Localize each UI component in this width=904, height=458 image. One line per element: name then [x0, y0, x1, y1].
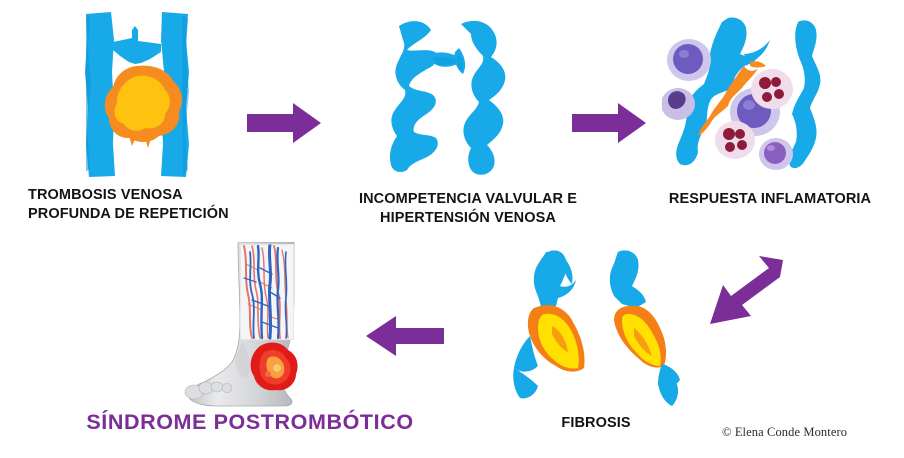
leukocyte-lymphocyte-3: [759, 138, 793, 170]
diagram-canvas: TROMBOSIS VENOSA PROFUNDA DE REPETICIÓN …: [0, 0, 904, 458]
caption-trombosis-venosa-profunda: TROMBOSIS VENOSA PROFUNDA DE REPETICIÓN: [0, 186, 290, 224]
leukocyte-neutrophil-2: [715, 121, 755, 159]
vein-wall-right-inflamed: [789, 20, 820, 168]
leukocyte-neutrophil-1: [751, 69, 793, 109]
vein-wall-right-tortuous: [454, 21, 505, 175]
figure-vein-with-thrombus: [62, 8, 212, 180]
valve-leaflets: [113, 26, 161, 64]
caption-respuesta-inflamatoria: RESPUESTA INFLAMATORIA: [636, 190, 904, 209]
caption-fibrosis: FIBROSIS: [498, 414, 694, 433]
fibrotic-vein-left: [513, 250, 584, 398]
arrow-diagonal-down-left: [697, 254, 789, 332]
arrow-right-1: [245, 100, 323, 146]
figure-leg-with-venous-ulcer: [182, 242, 322, 408]
figure-vein-with-leukocytes: [662, 12, 840, 184]
vein-window: [240, 244, 294, 340]
figure-fibrotic-vein: [512, 248, 684, 408]
arrow-right-2: [570, 100, 648, 146]
caption-incompetencia-valvular: INCOMPETENCIA VALVULAR E HIPERTENSIÓN VE…: [318, 190, 618, 228]
title-sindrome-postrombotico: SÍNDROME POSTROMBÓTICO: [50, 410, 450, 435]
venous-ulcer: [251, 343, 298, 391]
vein-wall-left-tortuous: [390, 21, 463, 172]
leukocyte-monocyte-1: [662, 88, 695, 120]
arrow-left-4: [362, 312, 446, 360]
figure-distorted-vein-walls: [385, 12, 525, 180]
leukocyte-lymphocyte-1: [667, 39, 711, 81]
copyright-credit: © Elena Conde Montero: [722, 425, 847, 440]
fibrotic-vein-right: [610, 250, 680, 406]
